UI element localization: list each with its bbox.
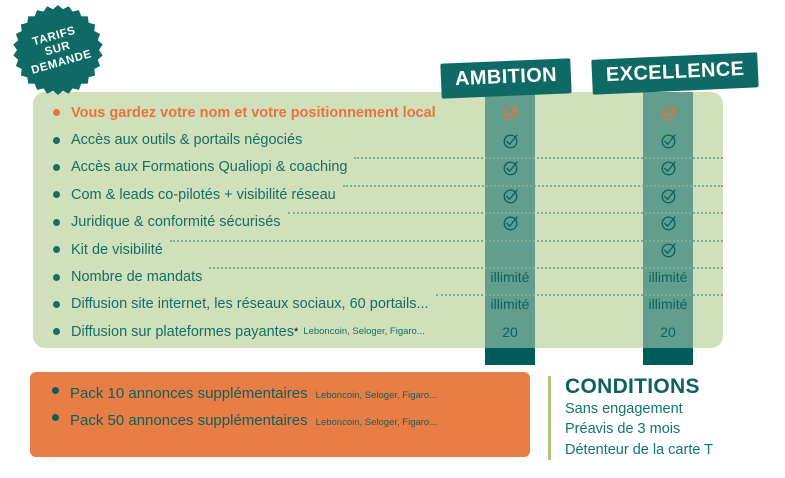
feature-row: Kit de visibilité xyxy=(33,236,723,263)
bullet-icon xyxy=(53,191,60,198)
conditions-title: CONDITIONS xyxy=(565,376,713,399)
feature-row: Diffusion site internet, les réseaux soc… xyxy=(33,291,723,318)
bullet-icon xyxy=(53,274,60,281)
feature-value-ambition xyxy=(485,104,535,122)
column-header-excellence-label: EXCELLENCE xyxy=(606,58,745,86)
feature-row: Accès aux Formations Qualiopi & coaching xyxy=(33,154,723,181)
feature-value-ambition xyxy=(485,213,535,231)
bullet-icon xyxy=(53,301,60,308)
check-icon xyxy=(502,105,519,122)
feature-label: Juridique & conformité sécurisés xyxy=(71,214,281,230)
feature-label: Nombre de mandats xyxy=(71,269,202,285)
feature-row: Diffusion sur plateformes payantes*Lebon… xyxy=(33,318,723,345)
addon-row: Pack 10 annonces supplémentairesLeboncoi… xyxy=(30,385,530,412)
feature-value-excellence xyxy=(643,186,693,204)
bullet-icon xyxy=(53,109,60,116)
feature-value-ambition xyxy=(485,131,535,149)
check-icon xyxy=(660,132,677,149)
column-foot-excellence xyxy=(643,348,693,365)
feature-row: Nombre de mandatsillimitéillimité xyxy=(33,263,723,290)
feature-value-excellence: illimité xyxy=(643,296,693,312)
conditions-line-1: Sans engagement xyxy=(565,399,713,420)
check-icon xyxy=(502,132,519,149)
feature-label: Com & leads co-pilotés + visibilité rése… xyxy=(71,187,336,203)
feature-value-excellence xyxy=(643,213,693,231)
feature-label: Diffusion sur plateformes payantes xyxy=(71,324,294,340)
feature-value-ambition: 20 xyxy=(485,324,535,340)
check-icon xyxy=(660,105,677,122)
addon-sublabel: Leboncoin, Seloger, Figaro... xyxy=(316,417,437,428)
tarifs-sur-demande-badge: TARIFS SUR DEMANDE xyxy=(6,4,110,96)
bullet-icon xyxy=(53,328,60,335)
column-foot-ambition xyxy=(485,348,535,365)
column-header-ambition[interactable]: AMBITION xyxy=(440,58,571,98)
bullet-icon xyxy=(52,387,59,394)
feature-label: Diffusion site internet, les réseaux soc… xyxy=(71,296,429,312)
feature-value-ambition xyxy=(485,186,535,204)
check-icon xyxy=(502,187,519,204)
pricing-table: Vous gardez votre nom et votre positionn… xyxy=(0,0,785,478)
column-header-ambition-label: AMBITION xyxy=(455,64,558,90)
dotted-leader xyxy=(170,240,723,242)
starburst-icon xyxy=(6,4,110,96)
feature-sublabel: Leboncoin, Seloger, Figaro... xyxy=(303,326,424,337)
feature-value-ambition xyxy=(485,159,535,177)
bullet-icon xyxy=(53,164,60,171)
column-header-excellence[interactable]: EXCELLENCE xyxy=(591,52,759,95)
feature-label: Kit de visibilité xyxy=(71,242,163,258)
feature-value-ambition: illimité xyxy=(485,296,535,312)
check-icon xyxy=(502,214,519,231)
check-icon xyxy=(660,187,677,204)
feature-label: Vous gardez votre nom et votre positionn… xyxy=(71,105,436,121)
feature-value-excellence: illimité xyxy=(643,269,693,285)
feature-row: Vous gardez votre nom et votre positionn… xyxy=(33,99,723,126)
bullet-icon xyxy=(52,414,59,421)
features-list: Vous gardez votre nom et votre positionn… xyxy=(33,92,723,348)
addon-label: Pack 10 annonces supplémentaires xyxy=(70,385,308,402)
feature-label: Accès aux outils & portails négociés xyxy=(71,132,302,148)
conditions-block: CONDITIONS Sans engagement Préavis de 3 … xyxy=(548,376,713,460)
bullet-icon xyxy=(53,219,60,226)
feature-value-excellence xyxy=(643,159,693,177)
addon-label: Pack 50 annonces supplémentaires xyxy=(70,412,308,429)
feature-row: Juridique & conformité sécurisés xyxy=(33,209,723,236)
feature-label: Accès aux Formations Qualiopi & coaching xyxy=(71,159,347,175)
bullet-icon xyxy=(53,137,60,144)
feature-value-excellence: 20 xyxy=(643,324,693,340)
addon-row: Pack 50 annonces supplémentairesLeboncoi… xyxy=(30,412,530,439)
check-icon xyxy=(660,242,677,259)
feature-value-excellence xyxy=(643,104,693,122)
footnote-marker: * xyxy=(294,326,298,338)
addon-sublabel: Leboncoin, Seloger, Figaro... xyxy=(316,390,437,401)
check-icon xyxy=(660,214,677,231)
check-icon xyxy=(502,159,519,176)
bullet-icon xyxy=(53,246,60,253)
feature-value-ambition: illimité xyxy=(485,269,535,285)
feature-row: Accès aux outils & portails négociés xyxy=(33,126,723,153)
feature-value-excellence xyxy=(643,241,693,259)
feature-row: Com & leads co-pilotés + visibilité rése… xyxy=(33,181,723,208)
conditions-line-3: Détenteur de la carte T xyxy=(565,440,713,461)
feature-value-excellence xyxy=(643,131,693,149)
check-icon xyxy=(660,159,677,176)
addons-panel: Pack 10 annonces supplémentairesLeboncoi… xyxy=(30,372,530,457)
conditions-line-2: Préavis de 3 mois xyxy=(565,419,713,440)
